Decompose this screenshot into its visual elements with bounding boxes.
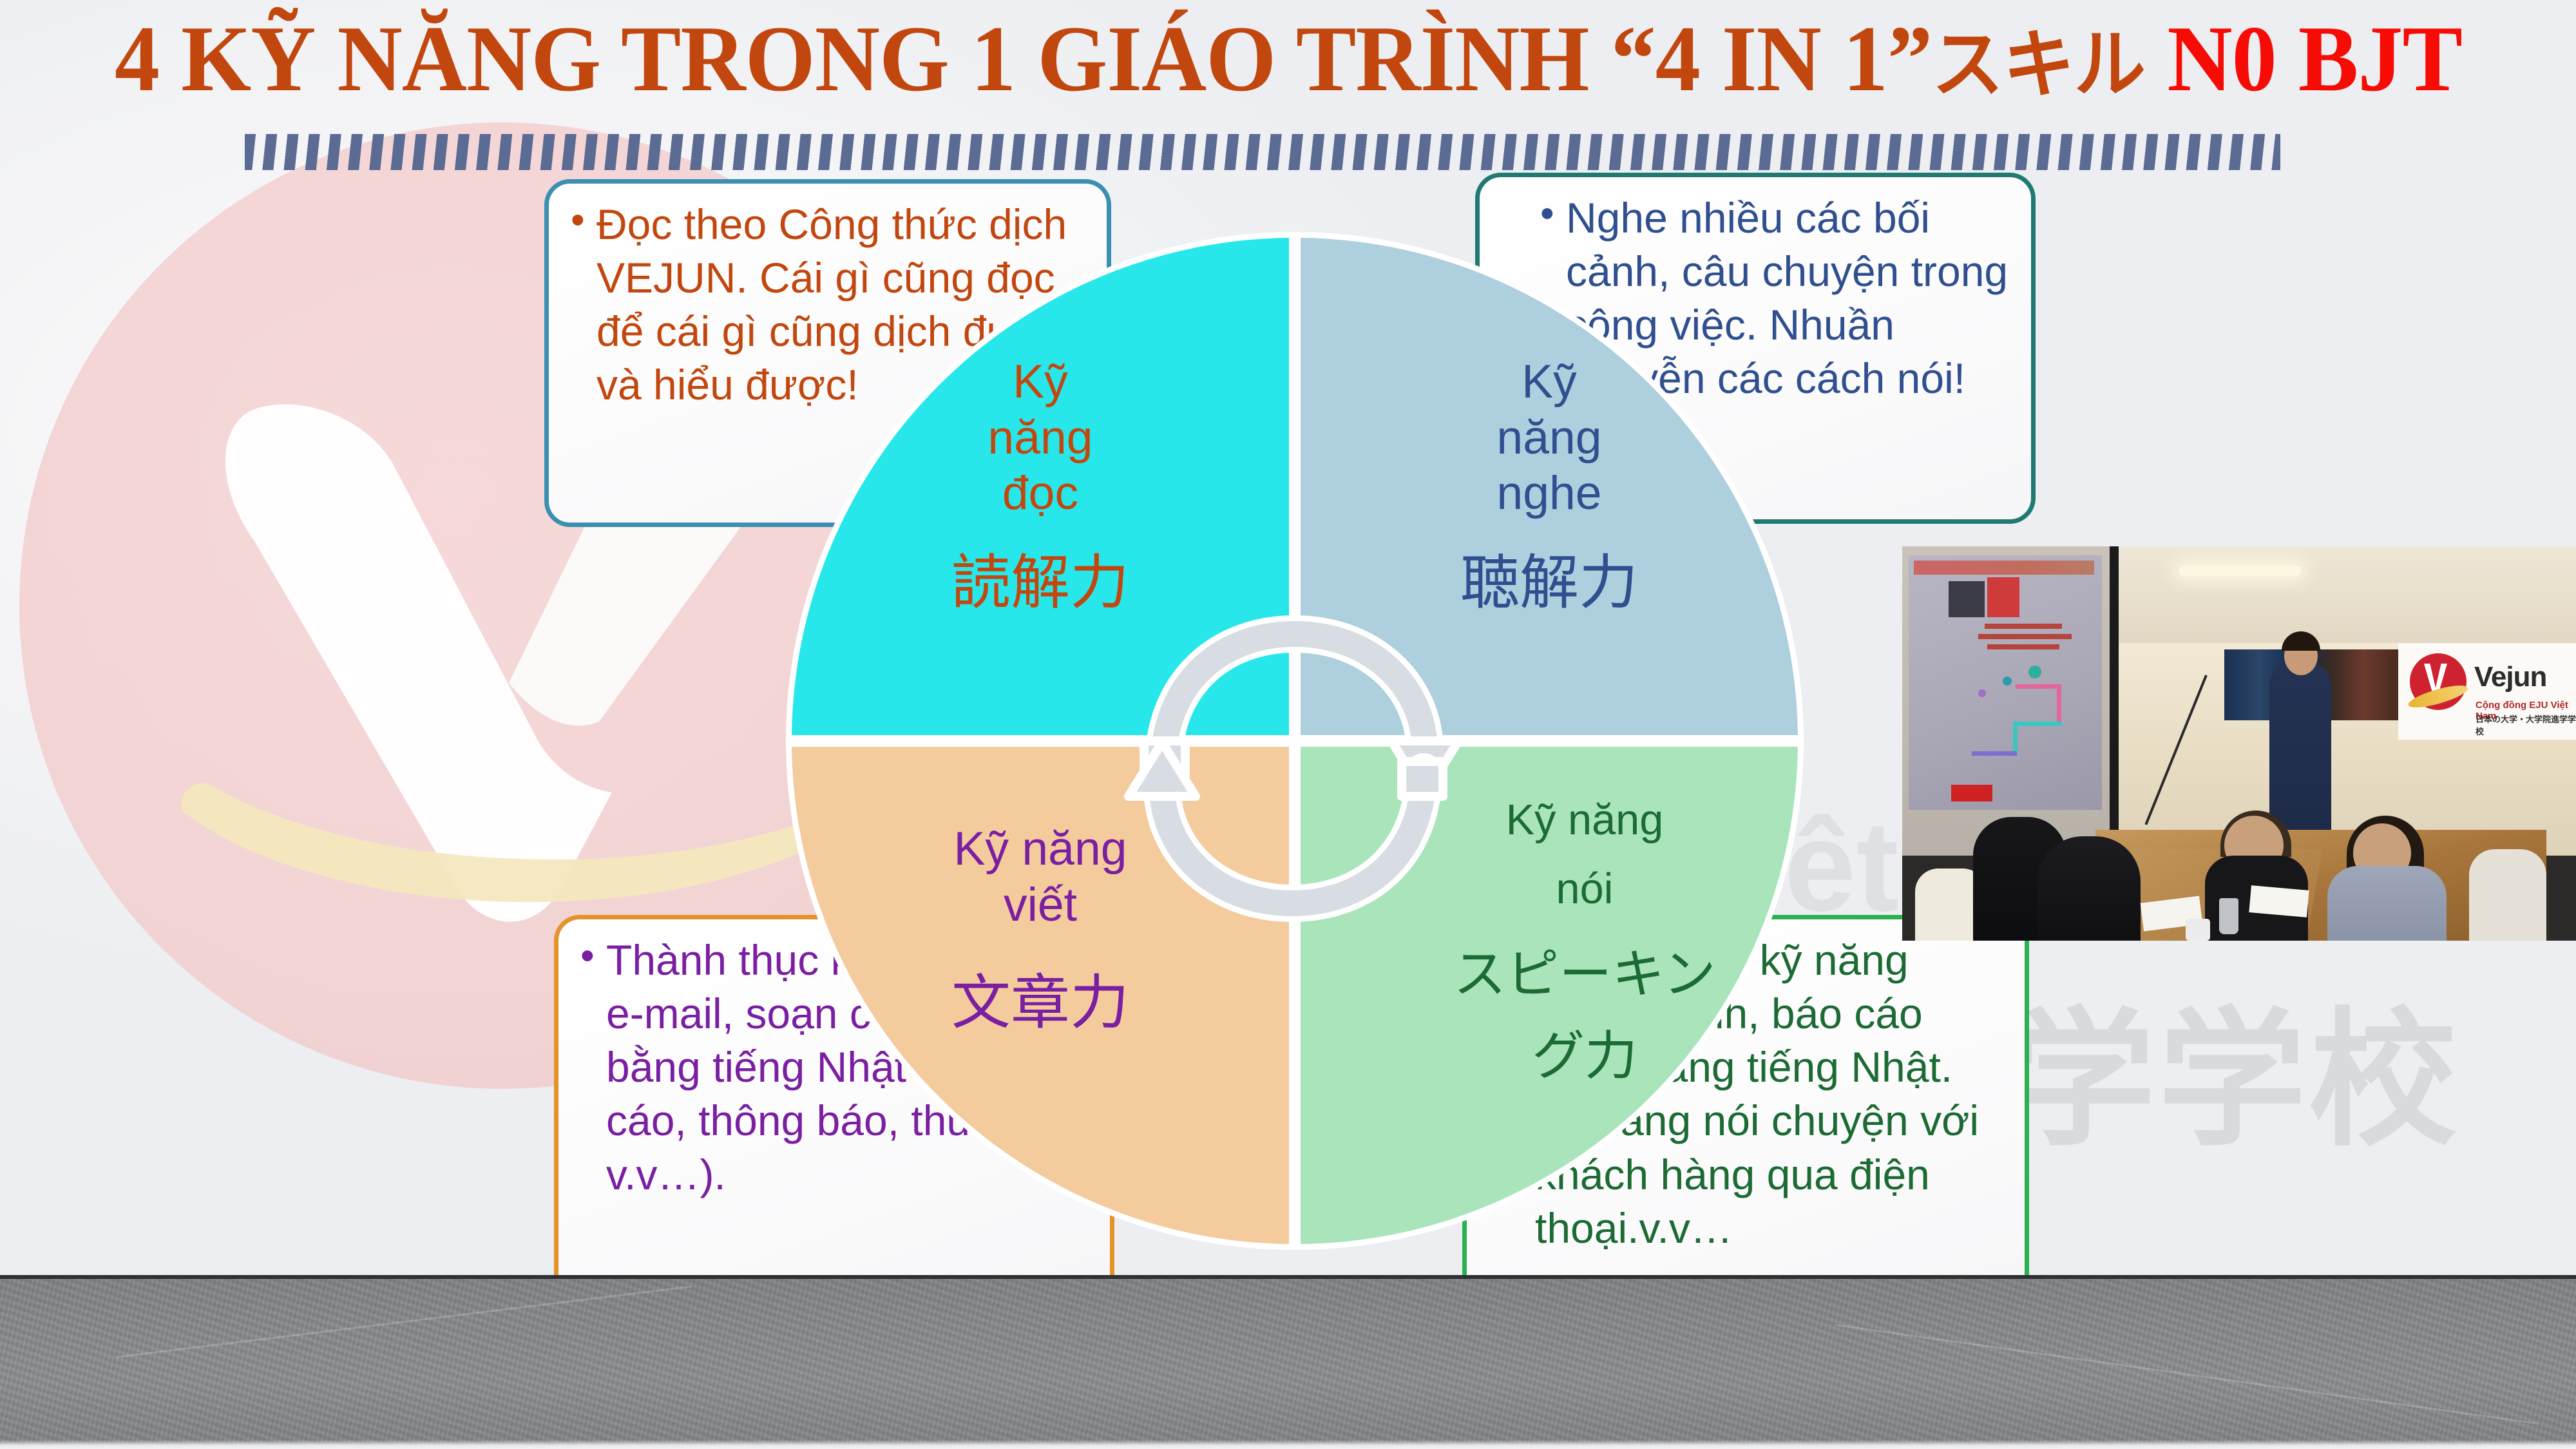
- photo-slide-path-1: [2016, 684, 2061, 689]
- photo-vejun-banner: Vejun Cộng đồng EJU Việt Nam 日本の大学・大学院進学…: [2398, 643, 2576, 740]
- slide-title: 4 KỸ NĂNG TRONG 1 GIÁO TRÌNH “4 IN 1”スキル…: [114, 9, 2461, 109]
- photo-banner-brand: Vejun: [2474, 661, 2546, 693]
- photo-slide-path-2: [2057, 684, 2061, 725]
- classroom-photo: Vejun Cộng đồng EJU Việt Nam 日本の大学・大学院進学…: [1902, 546, 2576, 941]
- quadrant-writing-labels: Kỹ năng viết 文章力: [792, 821, 1289, 1039]
- photo-chair-right: [2469, 849, 2546, 941]
- photo-slide-textline-3: [1987, 644, 2059, 649]
- photo-slide-eju-logo: [1951, 785, 1992, 801]
- photo-paper-2: [2249, 885, 2309, 917]
- photo-slide-header: [1914, 561, 2094, 575]
- slide-canvas: un EJU Việt Nam ・ 大学院進学学校 4 KỸ NĂNG TRON…: [0, 0, 2576, 1449]
- quadrant-speaking-vi: Kỹ năng nói: [1371, 795, 1798, 914]
- quadrant-speaking[interactable]: Kỹ năng nói スピーキン グ力: [1295, 741, 1804, 1250]
- quadrant-reading-vi: Kỹ năng đọc: [792, 354, 1289, 521]
- listening-vi-line2: năng: [1301, 410, 1798, 466]
- writing-vi-line1: Kỹ năng: [792, 821, 1289, 877]
- quadrant-listening[interactable]: Kỹ năng nghe 聴解力: [1295, 232, 1804, 741]
- four-skills-circle: Kỹ năng đọc 読解力 Kỹ năng nghe 聴解力 Kỹ nă: [786, 232, 1804, 1250]
- title-japanese-text: スキル: [1932, 21, 2145, 108]
- photo-glass: [2219, 898, 2238, 934]
- photo-ceiling-light: [2179, 566, 2302, 576]
- title-main-text: 4 KỸ NĂNG TRONG 1 GIÁO TRÌNH “4 IN 1”: [114, 6, 1931, 111]
- quadrant-writing-jp: 文章力: [792, 968, 1289, 1039]
- striped-divider: [245, 134, 2280, 170]
- photo-slide-dot-3: [1978, 689, 1986, 697]
- writing-vi-line2: viết: [792, 877, 1289, 933]
- speaking-vi-line2: nói: [1371, 864, 1798, 915]
- quadrant-reading-labels: Kỹ năng đọc 読解力: [792, 354, 1289, 618]
- photo-slide-textline-1: [1985, 624, 2062, 629]
- floor-scratch-1: [116, 1285, 692, 1358]
- quadrant-speaking-jp1: スピーキン: [1371, 944, 1798, 1006]
- photo-pillar: [2110, 546, 2119, 856]
- photo-slide-path-5: [1972, 751, 2017, 756]
- listening-vi-line1: Kỹ: [1301, 354, 1798, 410]
- photo-banner-sub-jp: 日本の大学・大学院進学学校: [2476, 713, 2576, 737]
- quadrant-speaking-jp2: グ力: [1371, 1026, 1798, 1088]
- quadrant-writing[interactable]: Kỹ năng viết 文章力: [786, 741, 1295, 1250]
- photo-slide-path-4: [2013, 722, 2018, 755]
- photo-slide-dot-2: [2003, 677, 2012, 686]
- photo-slide-textline-2: [1978, 634, 2072, 639]
- quadrant-writing-vi: Kỹ năng viết: [792, 821, 1289, 932]
- title-red-text: N0 BJT: [2167, 6, 2462, 111]
- photo-phone: [2186, 919, 2210, 941]
- quadrant-listening-vi: Kỹ năng nghe: [1301, 354, 1798, 521]
- quadrant-reading-jp: 読解力: [792, 548, 1289, 619]
- floor-strip: [0, 1275, 2576, 1449]
- photo-slide-dot-1: [2028, 666, 2041, 678]
- quadrant-speaking-labels: Kỹ năng nói スピーキン グ力: [1301, 795, 1798, 1088]
- photo-student-4-body: [2327, 866, 2447, 941]
- photo-wall-top: [2115, 546, 2576, 643]
- photo-slide-portrait: [1949, 581, 1985, 617]
- quadrant-listening-jp: 聴解力: [1301, 548, 1798, 619]
- photo-slide-path-3: [2013, 722, 2062, 726]
- quadrant-reading[interactable]: Kỹ năng đọc 読解力: [786, 232, 1295, 741]
- listening-vi-line3: nghe: [1301, 465, 1798, 521]
- reading-vi-line3: đọc: [792, 465, 1289, 521]
- photo-student-2: [2037, 836, 2141, 941]
- floor-scratch-2: [1836, 1324, 2538, 1425]
- title-block: 4 KỸ NĂNG TRONG 1 GIÁO TRÌNH “4 IN 1”スキル…: [0, 9, 2576, 109]
- speaking-vi-line1: Kỹ năng: [1371, 795, 1798, 846]
- photo-slide-redblock: [1987, 577, 2019, 617]
- quadrant-listening-labels: Kỹ năng nghe 聴解力: [1301, 354, 1798, 618]
- reading-vi-line2: năng: [792, 410, 1289, 466]
- reading-vi-line1: Kỹ: [792, 354, 1289, 410]
